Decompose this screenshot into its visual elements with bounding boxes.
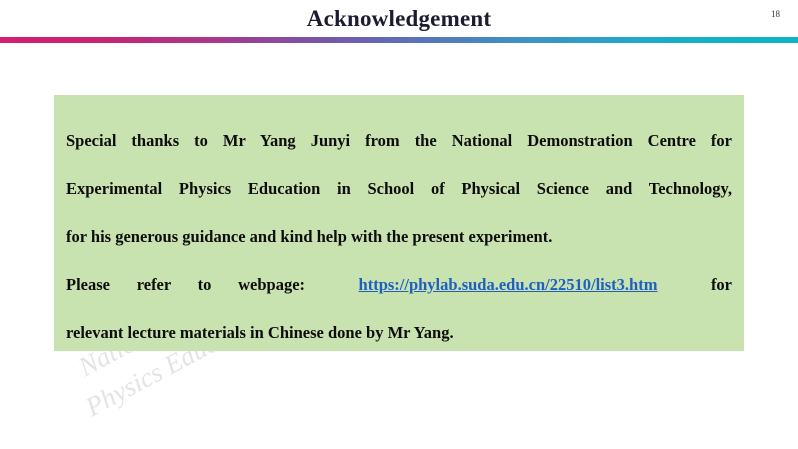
gradient-divider xyxy=(0,37,798,43)
page-title: Acknowledgement xyxy=(0,5,798,32)
acknowledgement-box: Special thanks to Mr Yang Junyi from the… xyxy=(54,95,744,351)
paragraph1-line-1: Special thanks to Mr Yang Junyi from the… xyxy=(66,117,732,165)
webpage-reference-line: Please refer to webpage: https://phylab.… xyxy=(66,261,732,309)
paragraph1-line-3: for his generous guidance and kind help … xyxy=(66,213,732,261)
phylab-webpage-link[interactable]: https://phylab.suda.edu.cn/22510/list3.h… xyxy=(359,275,658,294)
paragraph2-line-2: relevant lecture materials in Chinese do… xyxy=(66,309,732,357)
page-number: 18 xyxy=(771,9,780,19)
paragraph1-line-2: Experimental Physics Education in School… xyxy=(66,165,732,213)
slide: Acknowledgement 18 National Demonstratio… xyxy=(0,0,798,449)
webpage-suffix-text: for xyxy=(711,275,732,294)
acknowledgement-paragraph: Special thanks to Mr Yang Junyi from the… xyxy=(62,117,736,261)
webpage-prefix-text: Please refer to webpage: xyxy=(66,275,305,294)
webpage-paragraph: Please refer to webpage: https://phylab.… xyxy=(62,261,736,357)
